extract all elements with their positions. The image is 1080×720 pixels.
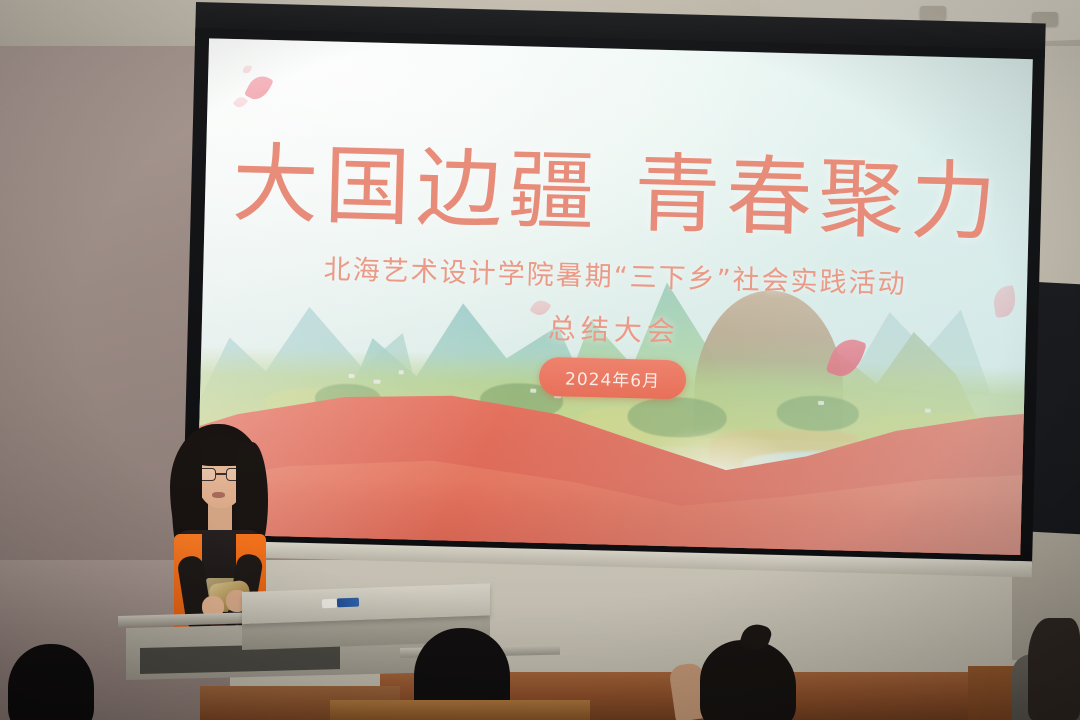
petal-icon	[242, 64, 251, 73]
eraser-object	[322, 599, 337, 609]
village-building	[925, 409, 931, 413]
presenter-mouth	[212, 492, 225, 498]
presentation-slide: 大国边疆青春聚力 北海艺术设计学院暑期“三下乡”社会实践活动 总结大会 2024…	[197, 38, 1033, 555]
lower-desk-panel	[140, 643, 340, 674]
slide-title-part2: 青春聚力	[633, 144, 1003, 253]
title-spacer	[600, 222, 634, 223]
screen-frame: 大国边疆青春聚力 北海艺术设计学院暑期“三下乡”社会实践活动 总结大会 2024…	[182, 28, 1045, 569]
village-building	[398, 371, 403, 375]
audience-head	[1028, 618, 1080, 720]
slide-title-part1: 大国边疆	[231, 134, 601, 243]
ceiling-bracket-icon	[920, 6, 946, 20]
village-building	[818, 401, 824, 405]
slide-main-title: 大国边疆青春聚力	[204, 140, 1030, 247]
audience-head	[8, 644, 94, 720]
village-building	[530, 389, 536, 393]
petal-icon	[244, 71, 274, 103]
projection-screen: 大国边疆青春聚力 北海艺术设计学院暑期“三下乡”社会实践活动 总结大会 2024…	[182, 2, 1046, 589]
glasses-bridge	[216, 473, 226, 475]
slide-subtitle: 北海艺术设计学院暑期“三下乡”社会实践活动	[203, 244, 1028, 304]
bench-backrest	[330, 700, 590, 720]
slide-date-badge: 2024年6月	[539, 357, 687, 400]
photo-scene: 大国边疆青春聚力 北海艺术设计学院暑期“三下乡”社会实践活动 总结大会 2024…	[0, 0, 1080, 720]
village-building	[349, 374, 355, 378]
marker-pen-object	[337, 598, 359, 608]
petal-icon	[233, 94, 248, 110]
village-building	[373, 380, 380, 384]
